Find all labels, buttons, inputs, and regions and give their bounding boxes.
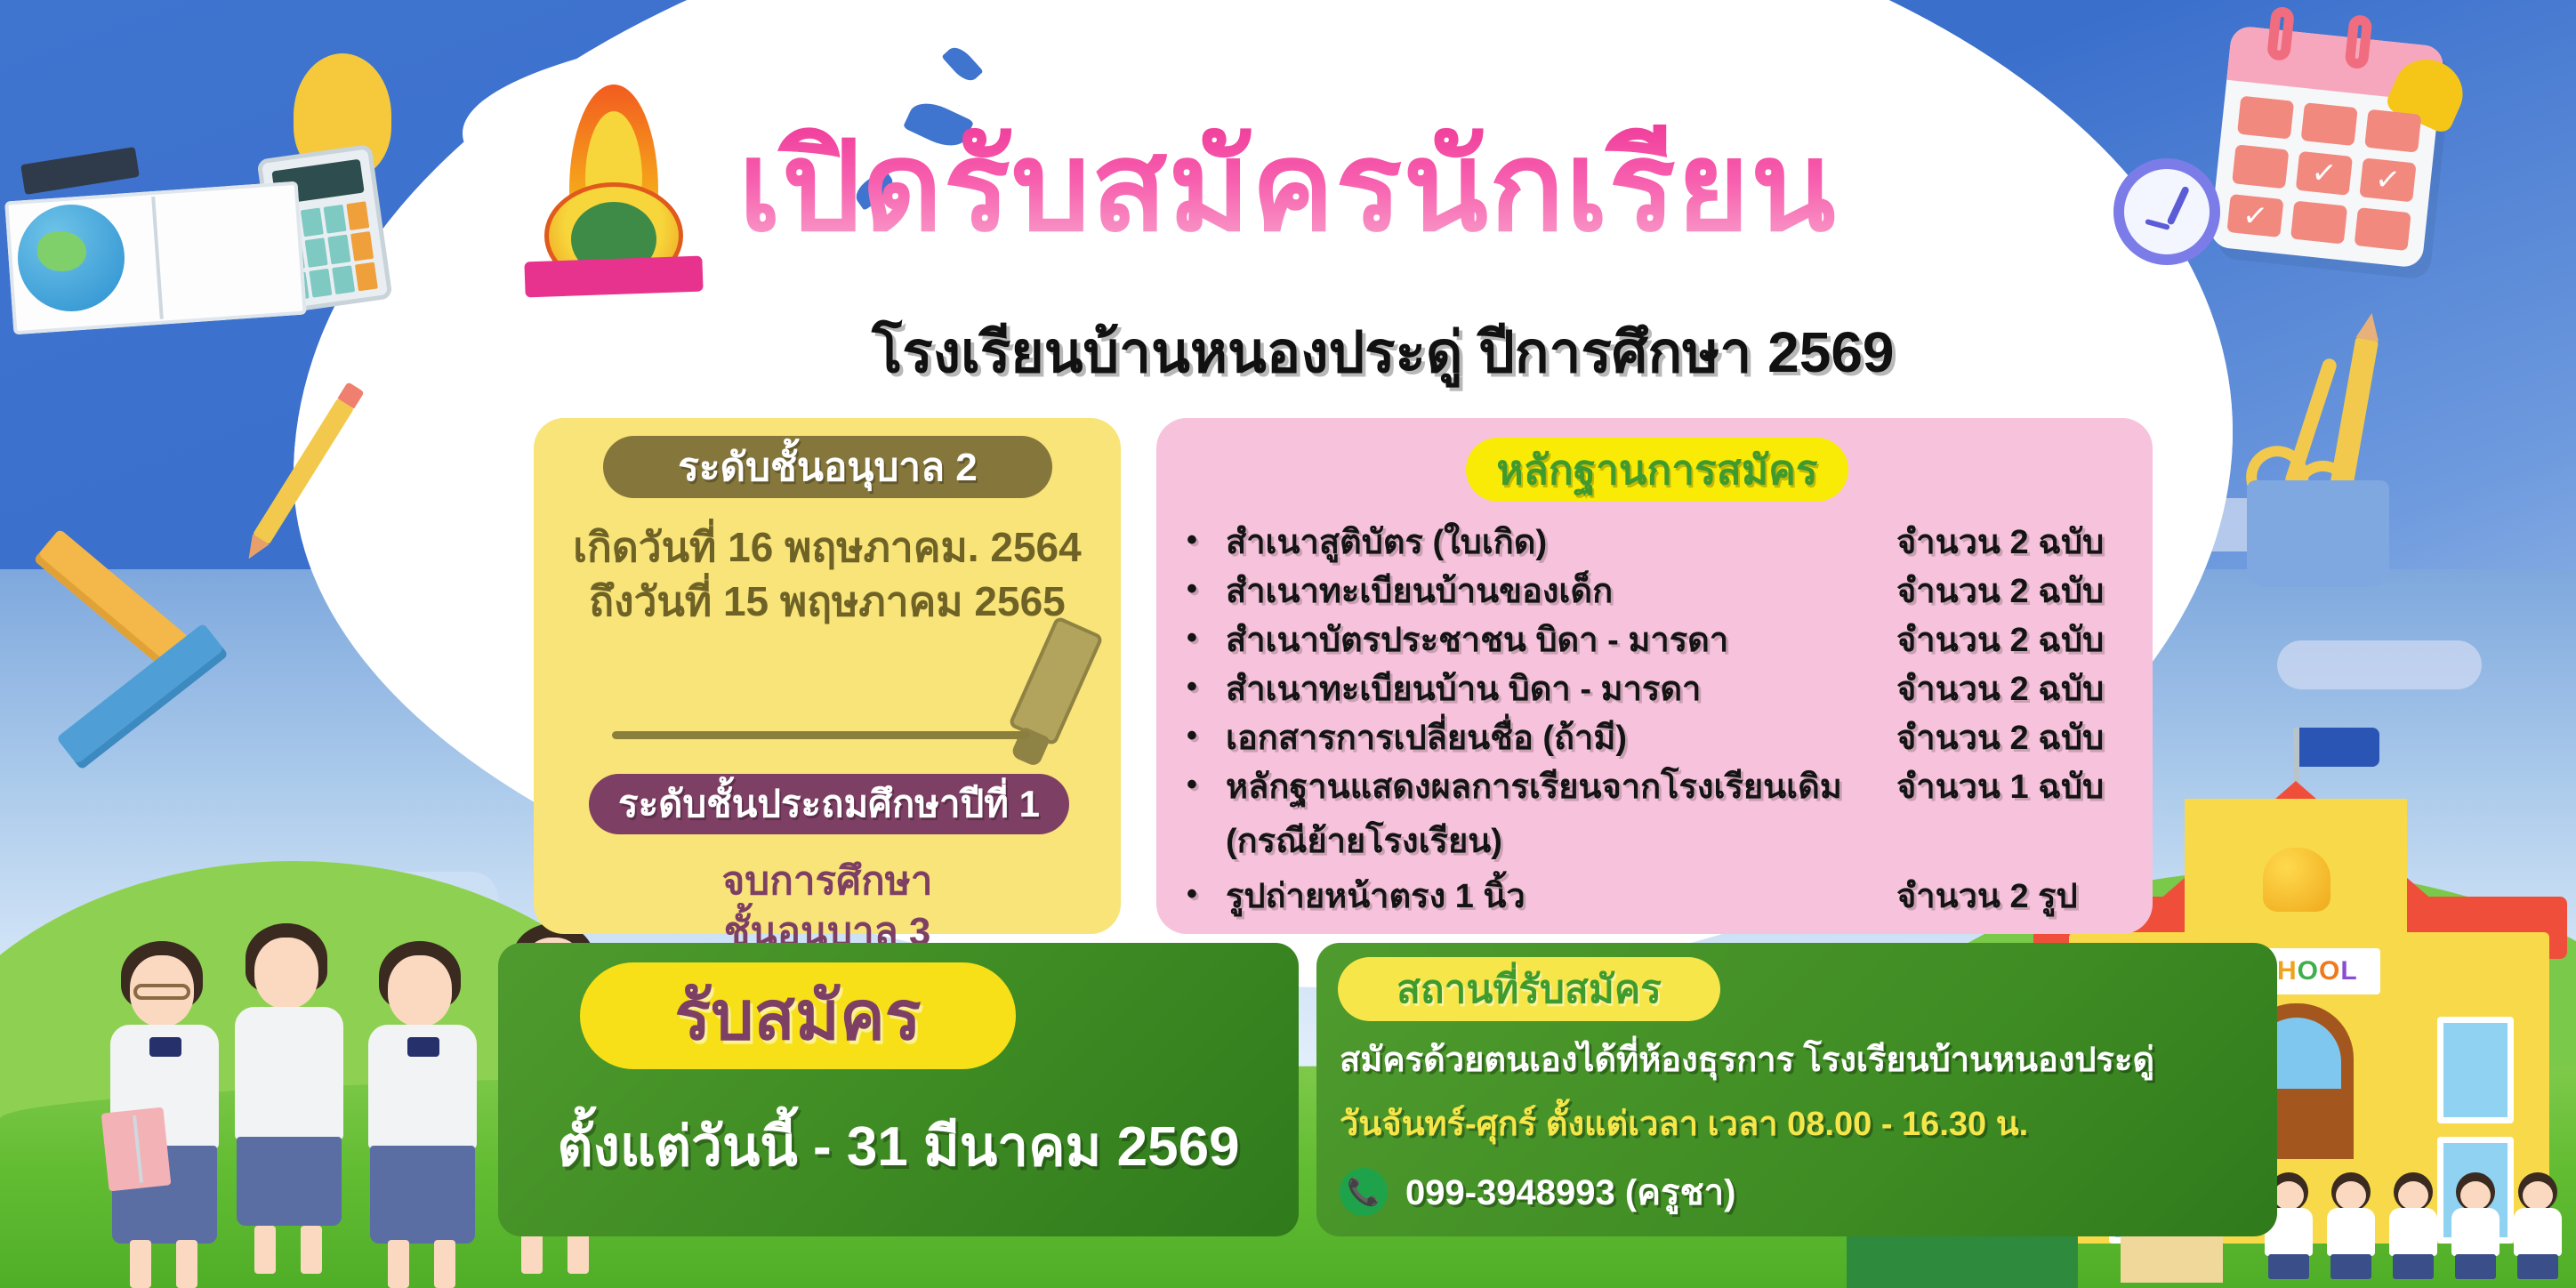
cloud-icon: [2277, 640, 2482, 689]
required-documents-card: หลักฐานการสมัคร • สำเนาสูติบัตร (ใบเกิด)…: [1156, 418, 2153, 934]
calendar-icon: [2210, 25, 2445, 269]
badge-location: สถานที่รับสมัคร: [1338, 957, 1720, 1021]
document-name: หลักฐานแสดงผลการเรียนจากโรงเรียนเดิม: [1226, 768, 1896, 807]
badge-required-documents: หลักฐานการสมัคร: [1466, 438, 1848, 502]
kid-character: [2446, 1172, 2505, 1279]
document-quantity: จำนวน 2 ฉบับ: [1896, 572, 2128, 611]
list-item: • สำเนาทะเบียนบ้าน บิดา - มารดา จำนวน 2 …: [1187, 670, 2128, 709]
grade-levels-card: ระดับชั้นอนุบาล 2 เกิดวันที่ 16 พฤษภาคม.…: [534, 418, 1121, 934]
list-item: • รูปถ่ายหน้าตรง 1 นิ้ว จำนวน 2 รูป: [1187, 877, 2128, 916]
document-name: เอกสารการเปลี่ยนชื่อ (ถ้ามี): [1226, 719, 1896, 758]
list-item: • สำเนาสูติบัตร (ใบเกิด) จำนวน 2 ฉบับ: [1187, 523, 2128, 562]
contact-phone-row[interactable]: 📞 099-3948993 (ครูชา): [1340, 1163, 1735, 1220]
bullet-icon: •: [1187, 523, 1226, 557]
graduation-cap-icon: [20, 147, 140, 195]
badge-kindergarten-level: ระดับชั้นอนุบาล 2: [603, 436, 1052, 498]
document-name: สำเนาสูติบัตร (ใบเกิด): [1226, 523, 1896, 562]
document-quantity: จำนวน 2 รูป: [1896, 877, 2128, 916]
scissors-icon: [2283, 357, 2339, 488]
document-name: สำเนาทะเบียนบ้านของเด็ก: [1226, 572, 1896, 611]
birthdate-line-1: เกิดวันที่ 16 พฤษภาคม. 2564: [534, 520, 1121, 575]
location-description: สมัครด้วยตนเองได้ที่ห้องธุรการ โรงเรียนบ…: [1340, 1032, 2154, 1086]
bullet-icon: •: [1187, 719, 1226, 753]
page-subtitle: โรงเรียนบ้านหนองประดู่ ปีการศึกษา 2569: [872, 307, 1895, 398]
document-quantity: จำนวน 1 ฉบับ: [1896, 768, 2128, 807]
school-bell-icon: [2263, 848, 2330, 912]
birthdate-line-2: ถึงวันที่ 15 พฤษภาคม 2565: [534, 575, 1121, 629]
contact-phone-number: 099-3948993 (ครูชา): [1405, 1163, 1735, 1220]
school-sign-letter: L: [2340, 956, 2357, 986]
document-quantity: จำนวน 2 ฉบับ: [1896, 621, 2128, 660]
kindergarten-birthdate-block: เกิดวันที่ 16 พฤษภาคม. 2564 ถึงวันที่ 15…: [534, 520, 1121, 628]
badge-primary-level: ระดับชั้นประถมศึกษาปีที่ 1: [589, 774, 1069, 834]
school-sign-letter: O: [2298, 956, 2319, 986]
bullet-icon: •: [1187, 877, 1226, 911]
bullet-icon: •: [1187, 572, 1226, 606]
document-name: รูปถ่ายหน้าตรง 1 นิ้ว: [1226, 877, 1896, 916]
alarm-clock-icon: [2113, 158, 2220, 265]
divider-line: [612, 731, 1030, 739]
badge-apply: รับสมัคร: [580, 962, 1016, 1069]
list-item: • เอกสารการเปลี่ยนชื่อ (ถ้ามี) จำนวน 2 ฉ…: [1187, 719, 2128, 758]
document-quantity: จำนวน 2 ฉบับ: [1896, 719, 2128, 758]
bullet-icon: •: [1187, 670, 1226, 704]
kid-character: [2508, 1172, 2567, 1279]
application-date-range: ตั้งแต่วันนี้ - 31 มีนาคม 2569: [498, 1103, 1299, 1190]
document-name-continued: (กรณีย้ายโรงเรียน): [1187, 813, 2128, 867]
document-quantity: จำนวน 2 ฉบับ: [1896, 523, 2128, 562]
globe-icon: [18, 205, 125, 311]
document-quantity: จำนวน 2 ฉบับ: [1896, 670, 2128, 709]
poster-canvas: SCHOOL: [0, 0, 2576, 1288]
school-sign-letter: O: [2319, 956, 2340, 986]
flag-icon: [2299, 728, 2379, 767]
application-location-card: สถานที่รับสมัคร สมัครด้วยตนเองได้ที่ห้อง…: [1316, 943, 2277, 1236]
kid-character: [2384, 1172, 2443, 1279]
window-icon: [2437, 1017, 2514, 1123]
document-name: สำเนาบัตรประชาชน บิดา - มารดา: [1226, 621, 1896, 660]
location-hours: วันจันทร์-ศุกร์ ตั้งแต่เวลา เวลา 08.00 -…: [1340, 1096, 2028, 1150]
school-emblem-logo: [516, 85, 712, 289]
bullet-icon: •: [1187, 768, 1226, 801]
highlighter-pen-icon: [1008, 616, 1104, 746]
pencil-cup-icon: [2247, 480, 2389, 587]
page-title: เปิดรับสมัครนักเรียน: [738, 125, 1837, 249]
list-item: • สำเนาทะเบียนบ้านของเด็ก จำนวน 2 ฉบับ: [1187, 572, 2128, 611]
primary-line-1: จบการศึกษา: [534, 856, 1121, 906]
document-name: สำเนาทะเบียนบ้าน บิดา - มารดา: [1226, 670, 1896, 709]
school-sign-letter: H: [2277, 956, 2298, 986]
application-period-card: รับสมัคร ตั้งแต่วันนี้ - 31 มีนาคม 2569: [498, 943, 1299, 1236]
bullet-icon: •: [1187, 621, 1226, 655]
kid-character: [2322, 1172, 2380, 1279]
documents-list: • สำเนาสูติบัตร (ใบเกิด) จำนวน 2 ฉบับ • …: [1187, 523, 2128, 927]
list-item: • หลักฐานแสดงผลการเรียนจากโรงเรียนเดิม จ…: [1187, 768, 2128, 807]
list-item: • สำเนาบัตรประชาชน บิดา - มารดา จำนวน 2 …: [1187, 621, 2128, 660]
phone-icon: 📞: [1340, 1168, 1388, 1216]
